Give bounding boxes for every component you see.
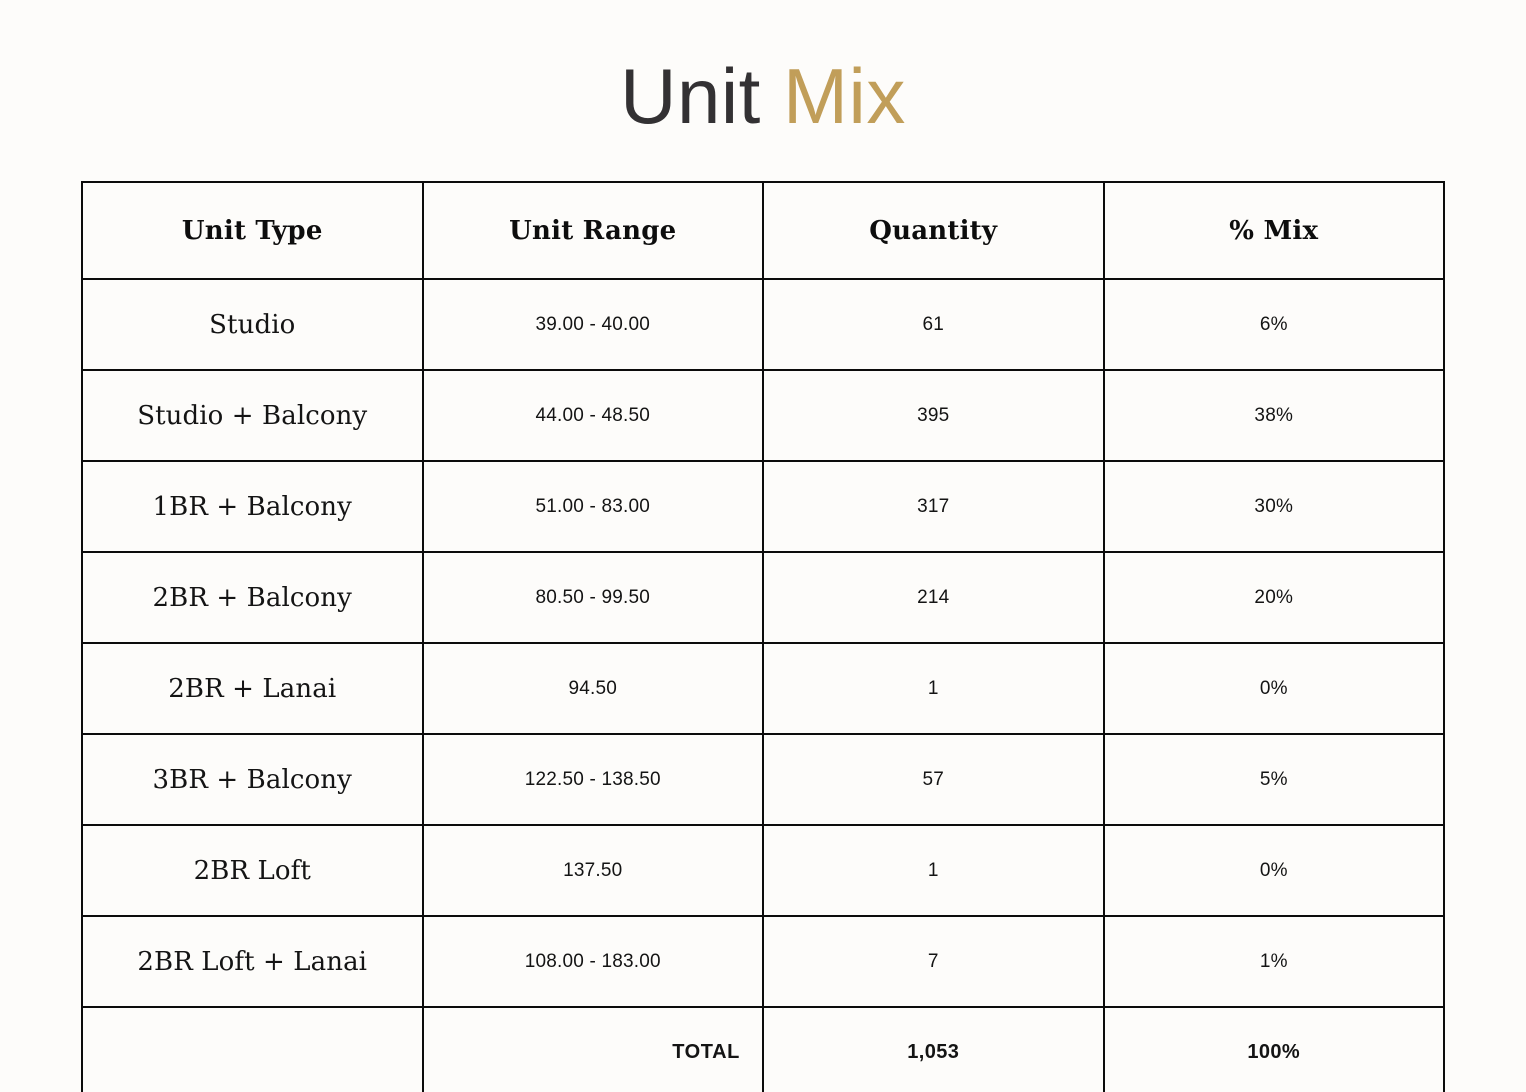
cell-mix: 30% (1104, 461, 1445, 552)
cell-unit-type: 2BR + Balcony (82, 552, 423, 643)
cell-unit-range: 122.50 - 138.50 (423, 734, 764, 825)
cell-quantity: 214 (763, 552, 1104, 643)
cell-unit-range: 94.50 (423, 643, 764, 734)
cell-unit-type: 1BR + Balcony (82, 461, 423, 552)
cell-unit-type: Studio (82, 279, 423, 370)
cell-unit-range: 108.00 - 183.00 (423, 916, 764, 1007)
cell-unit-type: Studio + Balcony (82, 370, 423, 461)
column-header-quantity: Quantity (763, 182, 1104, 279)
cell-mix: 38% (1104, 370, 1445, 461)
cell-unit-range: 39.00 - 40.00 (423, 279, 764, 370)
table-row: 1BR + Balcony 51.00 - 83.00 317 30% (82, 461, 1444, 552)
cell-unit-range: 80.50 - 99.50 (423, 552, 764, 643)
column-header-unit-range: Unit Range (423, 182, 764, 279)
unit-mix-table-container: Unit Type Unit Range Quantity % Mix Stud… (81, 181, 1443, 1092)
table-total-row: TOTAL 1,053 100% (82, 1007, 1444, 1092)
cell-mix: 5% (1104, 734, 1445, 825)
cell-quantity: 317 (763, 461, 1104, 552)
cell-unit-type: 2BR Loft + Lanai (82, 916, 423, 1007)
cell-mix: 1% (1104, 916, 1445, 1007)
table-body: Studio 39.00 - 40.00 61 6% Studio + Balc… (82, 279, 1444, 1092)
cell-unit-range: 137.50 (423, 825, 764, 916)
table-row: 2BR Loft + Lanai 108.00 - 183.00 7 1% (82, 916, 1444, 1007)
cell-unit-range: 51.00 - 83.00 (423, 461, 764, 552)
cell-total-quantity: 1,053 (763, 1007, 1104, 1092)
page-title: Unit Mix (0, 56, 1526, 138)
cell-quantity: 1 (763, 825, 1104, 916)
column-header-unit-type: Unit Type (82, 182, 423, 279)
table-row: Studio 39.00 - 40.00 61 6% (82, 279, 1444, 370)
cell-total-label: TOTAL (423, 1007, 764, 1092)
cell-quantity: 61 (763, 279, 1104, 370)
cell-quantity: 57 (763, 734, 1104, 825)
cell-mix: 0% (1104, 643, 1445, 734)
page-title-dark-part: Unit (620, 52, 761, 140)
page-title-gold-part: Mix (783, 52, 906, 140)
table-row: 2BR + Lanai 94.50 1 0% (82, 643, 1444, 734)
cell-total-mix: 100% (1104, 1007, 1445, 1092)
table-row: 2BR Loft 137.50 1 0% (82, 825, 1444, 916)
cell-mix: 20% (1104, 552, 1445, 643)
cell-unit-type: 2BR + Lanai (82, 643, 423, 734)
table-header: Unit Type Unit Range Quantity % Mix (82, 182, 1444, 279)
cell-mix: 6% (1104, 279, 1445, 370)
table-row: Studio + Balcony 44.00 - 48.50 395 38% (82, 370, 1444, 461)
cell-unit-range: 44.00 - 48.50 (423, 370, 764, 461)
cell-total-spacer (82, 1007, 423, 1092)
table-row: 2BR + Balcony 80.50 - 99.50 214 20% (82, 552, 1444, 643)
table-header-row: Unit Type Unit Range Quantity % Mix (82, 182, 1444, 279)
cell-mix: 0% (1104, 825, 1445, 916)
cell-quantity: 7 (763, 916, 1104, 1007)
cell-unit-type: 2BR Loft (82, 825, 423, 916)
column-header-mix: % Mix (1104, 182, 1445, 279)
unit-mix-table: Unit Type Unit Range Quantity % Mix Stud… (81, 181, 1445, 1092)
cell-quantity: 395 (763, 370, 1104, 461)
page-title-text: Unit Mix (0, 56, 1526, 138)
cell-unit-type: 3BR + Balcony (82, 734, 423, 825)
table-row: 3BR + Balcony 122.50 - 138.50 57 5% (82, 734, 1444, 825)
cell-quantity: 1 (763, 643, 1104, 734)
unit-mix-page: Unit Mix Unit Type Unit Range Quantity %… (0, 0, 1526, 1092)
